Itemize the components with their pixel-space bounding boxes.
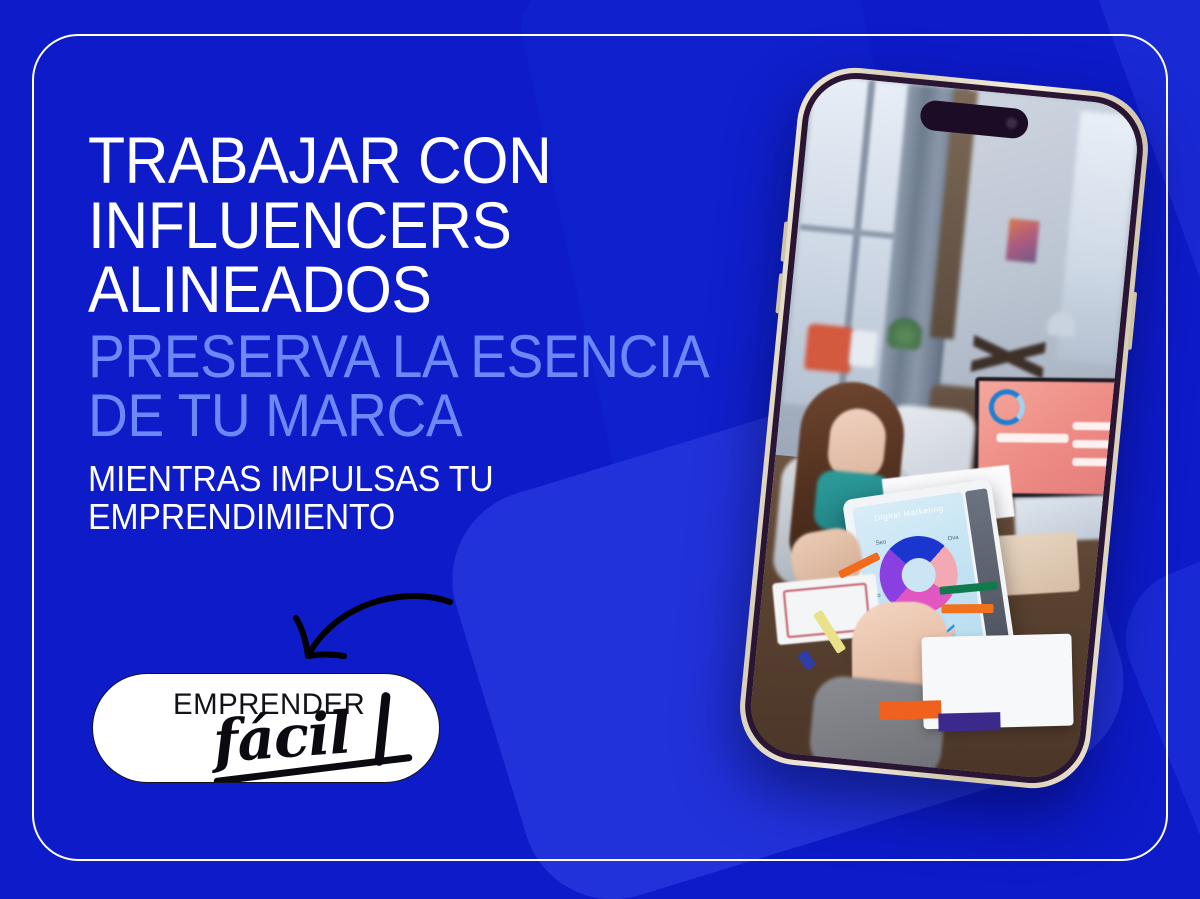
chart-label: Seo: [875, 539, 886, 546]
loading-spinner-icon: [989, 389, 1025, 425]
phone-screen: Digital Marketing Seo Ova Pau Onp Fao: [747, 75, 1142, 782]
chart-label: Ova: [947, 535, 959, 543]
poster-canvas: TRABAJAR CON INFLUENCERS ALINEADOS PRESE…: [0, 0, 1200, 899]
phone-mockup: Digital Marketing Seo Ova Pau Onp Fao: [735, 62, 1154, 793]
pen-orange: [941, 604, 993, 613]
wall-art: [1006, 218, 1040, 263]
plant: [887, 315, 924, 350]
color-strip-purple: [938, 712, 1000, 732]
color-strip-orange: [879, 700, 941, 720]
donut-center-hole: [899, 556, 938, 595]
monitor-text-bar: [997, 433, 1069, 443]
page-title: TRABAJAR CON INFLUENCERS ALINEADOS: [88, 128, 732, 322]
vase: [849, 330, 878, 368]
brand-logo-badge[interactable]: EMPRENDER fácil: [92, 673, 440, 783]
front-camera-icon: [1004, 116, 1018, 130]
red-lamp: [804, 323, 854, 373]
office-photo: Digital Marketing Seo Ova Pau Onp Fao: [747, 75, 1142, 782]
copy-block: TRABAJAR CON INFLUENCERS ALINEADOS PRESE…: [88, 128, 788, 536]
logo-flourish-stroke: [374, 692, 391, 767]
subheadline: PRESERVA LA ESENCIA DE TU MARCA: [88, 328, 732, 446]
tagline: MIENTRAS IMPULSAS TU EMPRENDIMIENTO: [88, 460, 746, 536]
curved-arrow-icon: [276, 586, 456, 682]
chart-title: Digital Marketing: [853, 501, 964, 526]
